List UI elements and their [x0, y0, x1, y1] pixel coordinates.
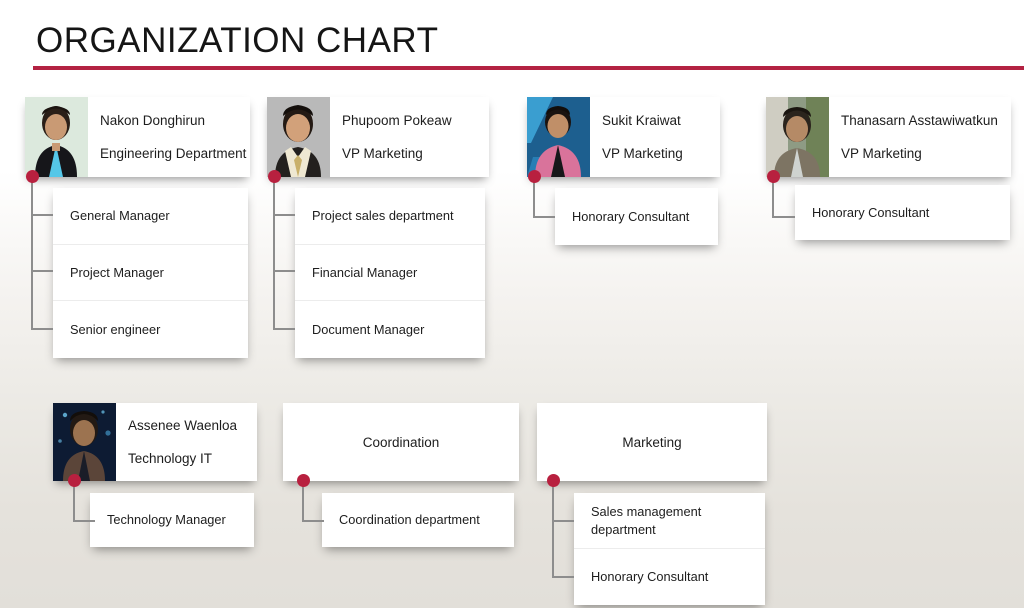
sub-stack-engineering: General Manager Project Manager Senior e…: [53, 188, 248, 358]
connector-branch-marketing-1: [552, 520, 574, 522]
connector-trunk-technology-it: [73, 481, 75, 521]
connector-branch-engineering-2: [31, 270, 53, 272]
connector-branch-thanasarn-1: [772, 216, 795, 218]
person-card-vp-marketing-sukit[interactable]: Sukit Kraiwat VP Marketing: [527, 97, 720, 177]
portrait-photo-phupoom: [267, 97, 330, 177]
sub-item-label: Senior engineer: [70, 321, 160, 338]
connector-dot-vp-marketing-sukit: [528, 170, 541, 183]
person-text-engineering: Nakon Donghirun Engineering Department: [88, 97, 250, 177]
person-card-vp-marketing-phupoom[interactable]: Phupoom Pokeaw VP Marketing: [267, 97, 489, 177]
portrait-photo-sukit: [527, 97, 590, 177]
connector-branch-marketing-2: [552, 576, 574, 578]
person-name: Phupoom Pokeaw: [342, 113, 489, 129]
connector-trunk-coordination: [302, 481, 304, 521]
portrait-photo-assenee: [53, 403, 116, 481]
connector-trunk-vp-marketing-thanasarn: [772, 177, 774, 217]
list-item[interactable]: Technology Manager: [90, 493, 254, 547]
sub-item-label: Sales management department: [591, 503, 739, 538]
connector-branch-engineering-1: [31, 214, 53, 216]
connector-branch-phupoom-2: [273, 270, 295, 272]
person-role: VP Marketing: [342, 146, 489, 162]
connector-dot-technology-it: [68, 474, 81, 487]
sub-item-label: Honorary Consultant: [572, 208, 689, 225]
plain-card-label: Marketing: [622, 435, 681, 450]
list-item[interactable]: Sales management department: [574, 493, 765, 548]
sub-item-label: Financial Manager: [312, 264, 417, 281]
person-name: Sukit Kraiwat: [602, 113, 720, 129]
title-divider-rule: [33, 66, 1024, 70]
page-title: ORGANIZATION CHART: [36, 21, 438, 61]
sub-item-label: Technology Manager: [107, 511, 226, 528]
sub-item-label: Coordination department: [339, 511, 480, 528]
person-card-vp-marketing-thanasarn[interactable]: Thanasarn Asstawiwatkun VP Marketing: [766, 97, 1011, 177]
sub-stack-marketing: Sales management department Honorary Con…: [574, 493, 765, 605]
list-item[interactable]: General Manager: [53, 188, 248, 244]
sub-item-label: Project Manager: [70, 264, 164, 281]
sub-item-label: Honorary Consultant: [812, 204, 929, 221]
list-item[interactable]: Honorary Consultant: [795, 185, 1010, 240]
list-item[interactable]: Senior engineer: [53, 300, 248, 358]
connector-trunk-engineering: [31, 177, 33, 329]
person-name: Thanasarn Asstawiwatkun: [841, 113, 1011, 129]
connector-trunk-vp-marketing-phupoom: [273, 177, 275, 329]
plain-card-marketing[interactable]: Marketing: [537, 403, 767, 481]
sub-item-label: General Manager: [70, 207, 170, 224]
list-item[interactable]: Document Manager: [295, 300, 485, 358]
person-text-vp-marketing-phupoom: Phupoom Pokeaw VP Marketing: [330, 97, 489, 177]
sub-item-label: Project sales department: [312, 207, 454, 224]
sub-item-label: Document Manager: [312, 321, 424, 338]
portrait-photo-thanasarn: [766, 97, 829, 177]
person-role: Technology IT: [128, 451, 257, 467]
sub-stack-vp-marketing-thanasarn: Honorary Consultant: [795, 185, 1010, 240]
connector-branch-phupoom-3: [273, 328, 295, 330]
sub-stack-vp-marketing-sukit: Honorary Consultant: [555, 188, 718, 245]
person-name: Assenee Waenloa: [128, 418, 257, 434]
person-name: Nakon Donghirun: [100, 113, 250, 129]
sub-stack-coordination: Coordination department: [322, 493, 514, 547]
connector-dot-marketing: [547, 474, 560, 487]
organization-chart-slide: ORGANIZATION CHART Nakon Donghirun Engin…: [0, 0, 1024, 608]
connector-branch-engineering-3: [31, 328, 53, 330]
plain-card-label: Coordination: [363, 435, 440, 450]
list-item[interactable]: Project sales department: [295, 188, 485, 244]
person-card-engineering[interactable]: Nakon Donghirun Engineering Department: [25, 97, 250, 177]
connector-dot-coordination: [297, 474, 310, 487]
connector-dot-vp-marketing-phupoom: [268, 170, 281, 183]
connector-branch-technology-1: [73, 520, 95, 522]
portrait-photo-nakon: [25, 97, 88, 177]
person-text-vp-marketing-sukit: Sukit Kraiwat VP Marketing: [590, 97, 720, 177]
connector-dot-vp-marketing-thanasarn: [767, 170, 780, 183]
connector-branch-coordination-1: [302, 520, 324, 522]
sub-stack-vp-marketing-phupoom: Project sales department Financial Manag…: [295, 188, 485, 358]
sub-item-label: Honorary Consultant: [591, 568, 708, 585]
person-text-technology-it: Assenee Waenloa Technology IT: [116, 403, 257, 481]
connector-trunk-vp-marketing-sukit: [533, 177, 535, 217]
list-item[interactable]: Project Manager: [53, 244, 248, 300]
list-item[interactable]: Honorary Consultant: [574, 548, 765, 605]
person-role: VP Marketing: [841, 146, 1011, 162]
connector-branch-sukit-1: [533, 216, 555, 218]
connector-dot-engineering: [26, 170, 39, 183]
person-text-vp-marketing-thanasarn: Thanasarn Asstawiwatkun VP Marketing: [829, 97, 1011, 177]
connector-branch-phupoom-1: [273, 214, 295, 216]
person-role: VP Marketing: [602, 146, 720, 162]
plain-card-coordination[interactable]: Coordination: [283, 403, 519, 481]
person-card-technology-it[interactable]: Assenee Waenloa Technology IT: [53, 403, 257, 481]
list-item[interactable]: Financial Manager: [295, 244, 485, 300]
person-role: Engineering Department: [100, 146, 250, 162]
list-item[interactable]: Honorary Consultant: [555, 188, 718, 245]
sub-stack-technology-it: Technology Manager: [90, 493, 254, 547]
connector-trunk-marketing: [552, 481, 554, 577]
list-item[interactable]: Coordination department: [322, 493, 514, 547]
